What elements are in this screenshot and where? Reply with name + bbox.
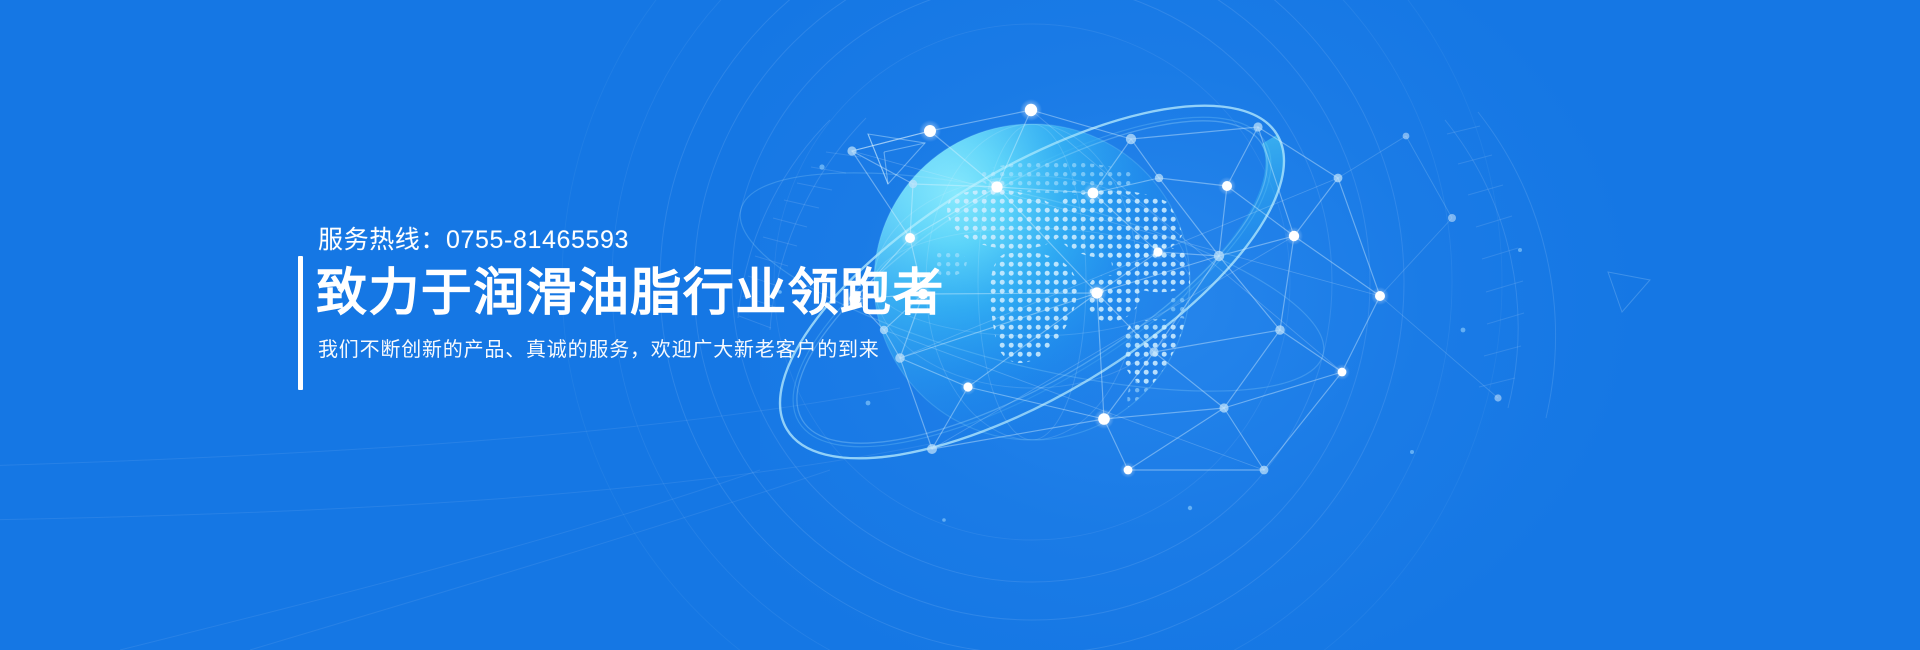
radar-arc-ticks-right (1445, 112, 1555, 418)
hero-text-block: 服务热线：0755-81465593 致力于润滑油脂行业领跑者 我们不断创新的产… (253, 196, 945, 392)
service-hotline: 服务热线：0755-81465593 (318, 225, 945, 256)
horizon-lines (0, 388, 930, 650)
network-edge-nodes (1403, 133, 1502, 402)
page-subtitle: 我们不断创新的产品、真诚的服务，欢迎广大新老客户的到来 (318, 337, 945, 363)
wireframe-triangle-small (1608, 272, 1650, 312)
wireframe-triangle (868, 134, 925, 184)
network-edge-lines (1338, 136, 1498, 398)
page-title: 致力于润滑油脂行业领跑者 (316, 260, 945, 325)
vertical-accent-bar (298, 256, 303, 390)
hero-banner: 服务热线：0755-81465593 致力于润滑油脂行业领跑者 我们不断创新的产… (0, 0, 1920, 650)
